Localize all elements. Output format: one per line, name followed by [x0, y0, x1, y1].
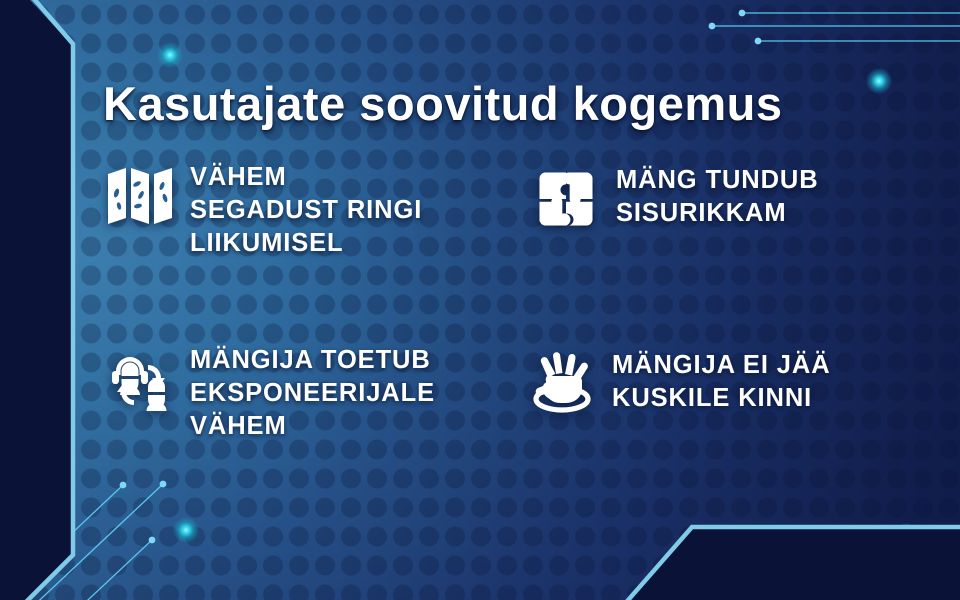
feature-label: MÄNGIJA EI JÄÄ KUSKILE KINNI	[612, 348, 922, 415]
player-support-handoff-icon	[104, 343, 176, 415]
feature-label: VÄHEM SEGADUST RINGI LIIKUMISEL	[190, 160, 490, 260]
puzzle-pieces-icon	[530, 163, 602, 235]
feature-label: MÄNGIJA TOETUB EKSPONEERIJALE VÄHEM	[190, 343, 520, 443]
frame-panel-bottom-right	[622, 482, 960, 600]
feature-item-game-feels-richer[interactable]: MÄNG TUNDUB SISURIKKAM	[530, 163, 916, 235]
slide-canvas: Kasutajate soovitud kogemus	[0, 0, 960, 600]
glow-dot-top-left	[157, 42, 183, 68]
frame-panel-left	[0, 0, 118, 600]
feature-item-fewer-navigation-confusion[interactable]: VÄHEM SEGADUST RINGI LIIKUMISEL	[104, 160, 490, 260]
feature-label: MÄNG TUNDUB SISURIKKAM	[616, 163, 916, 230]
feature-item-less-reliance-on-host[interactable]: MÄNGIJA TOETUB EKSPONEERIJALE VÄHEM	[104, 343, 520, 443]
hand-out-of-hole-icon	[526, 348, 598, 420]
feature-item-player-never-gets-stuck[interactable]: MÄNGIJA EI JÄÄ KUSKILE KINNI	[526, 348, 922, 420]
folded-map-icon	[104, 160, 176, 232]
page-title: Kasutajate soovitud kogemus	[103, 76, 783, 131]
